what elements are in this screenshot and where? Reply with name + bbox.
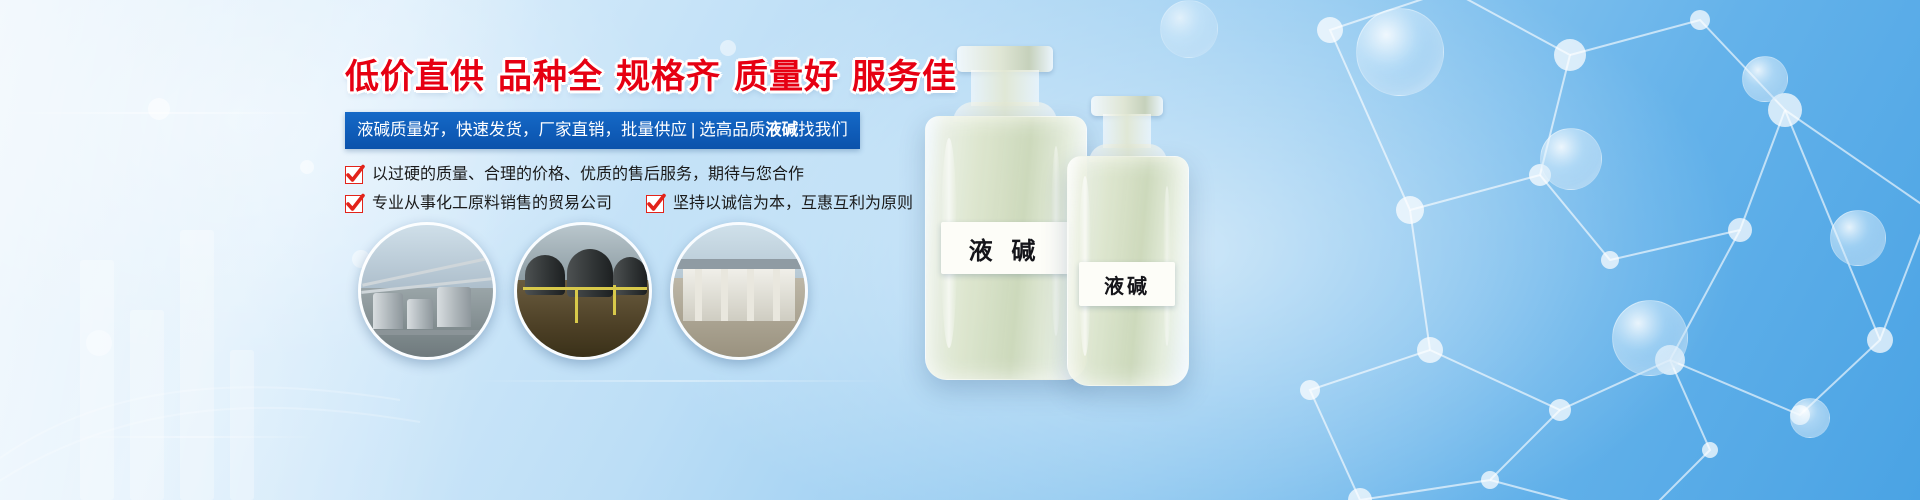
feature-list: 以过硬的质量、合理的价格、优质的售后服务，期待与您合作 专业从事化工原料销售的贸… (345, 166, 905, 213)
list-item: 坚持以诚信为本，互惠互利为原则 (646, 195, 913, 213)
photo-gallery (358, 222, 808, 360)
decorative-sphere-3 (1742, 56, 1788, 102)
roof-shape (677, 259, 801, 269)
photo-factory-building[interactable] (670, 222, 808, 360)
feature-text: 以过硬的质量、合理的价格、优质的售后服务，期待与您合作 (372, 167, 804, 183)
feature-text: 坚持以诚信为本，互惠互利为原则 (673, 196, 913, 212)
feature-row-2: 专业从事化工原料销售的贸易公司 坚持以诚信为本，互惠互利为原则 (345, 195, 905, 213)
light-streak-3 (60, 436, 320, 438)
railing-shape (575, 287, 578, 323)
feature-row-1: 以过硬的质量、合理的价格、优质的售后服务，期待与您合作 (345, 166, 905, 184)
feature-text: 专业从事化工原料销售的贸易公司 (372, 196, 612, 212)
bokeh-dot-1 (148, 98, 170, 120)
banner-copy: 低价直供品种全规格齐质量好服务佳 液碱质量好，快速发货，厂家直销，批量供应|选高… (345, 60, 905, 224)
decorative-sphere-1 (1356, 8, 1444, 96)
bottle-cap (957, 46, 1053, 72)
tank-shape (407, 299, 433, 329)
light-streak-1 (0, 112, 330, 114)
pipe-shape (361, 330, 493, 335)
page-title: 低价直供品种全规格齐质量好服务佳 (345, 60, 905, 96)
bokeh-dot-4 (86, 330, 112, 356)
bottle-neck (1103, 114, 1151, 148)
subtitle-bar: 液碱质量好，快速发货，厂家直销，批量供应|选高品质液碱找我们 (345, 112, 860, 150)
tank-shape (373, 293, 403, 329)
headline-segment-2: 品种全 (498, 58, 603, 96)
decorative-sphere-2 (1540, 128, 1602, 190)
bokeh-dot-2 (300, 160, 314, 174)
check-icon (345, 166, 363, 184)
headline-segment-3: 规格齐 (616, 58, 721, 96)
bottle-label-text: 液碱 (1104, 270, 1150, 299)
tank-shape (437, 287, 471, 327)
headline-segment-1: 低价直供 (345, 58, 485, 96)
column-shape (721, 269, 728, 321)
product-banner: 低价直供品种全规格齐质量好服务佳 液碱质量好，快速发货，厂家直销，批量供应|选高… (0, 0, 1920, 500)
subtitle-separator: | (687, 121, 699, 139)
bottle-neck (971, 70, 1039, 106)
bottle-small[interactable]: 液碱 (1063, 96, 1193, 388)
bottle-label-text: 液 碱 (969, 231, 1042, 266)
column-shape (773, 269, 780, 321)
decorative-sphere-5 (1830, 210, 1886, 266)
photo-industrial-tanks[interactable] (514, 222, 652, 360)
subtitle-tail-suffix: 找我们 (798, 121, 848, 139)
decorative-sphere-4 (1612, 300, 1688, 376)
headline-segment-4: 质量好 (734, 58, 839, 96)
railing-shape (523, 287, 647, 290)
subtitle-tail-prefix: 选高品质 (699, 121, 765, 139)
bokeh-dot-5 (720, 40, 736, 56)
check-icon (345, 195, 363, 213)
subtitle-main: 液碱质量好，快速发货，厂家直销，批量供应 (357, 121, 687, 139)
background-vertical-bars (60, 200, 360, 500)
column-shape (747, 269, 754, 321)
railing-shape (613, 285, 616, 315)
light-streak-2 (470, 380, 890, 382)
photo-storage-tank-farm[interactable] (358, 222, 496, 360)
product-bottles: 液 碱 液碱 (905, 10, 1235, 430)
check-icon (646, 195, 664, 213)
subtitle-tail-keyword: 液碱 (765, 121, 798, 139)
column-shape (695, 269, 702, 321)
bottle-label: 液碱 (1079, 262, 1175, 306)
bottle-label: 液 碱 (941, 222, 1069, 274)
list-item: 专业从事化工原料销售的贸易公司 (345, 195, 612, 213)
decorative-sphere-6 (1790, 398, 1830, 438)
list-item: 以过硬的质量、合理的价格、优质的售后服务，期待与您合作 (345, 166, 804, 184)
bottle-cap (1091, 96, 1163, 116)
